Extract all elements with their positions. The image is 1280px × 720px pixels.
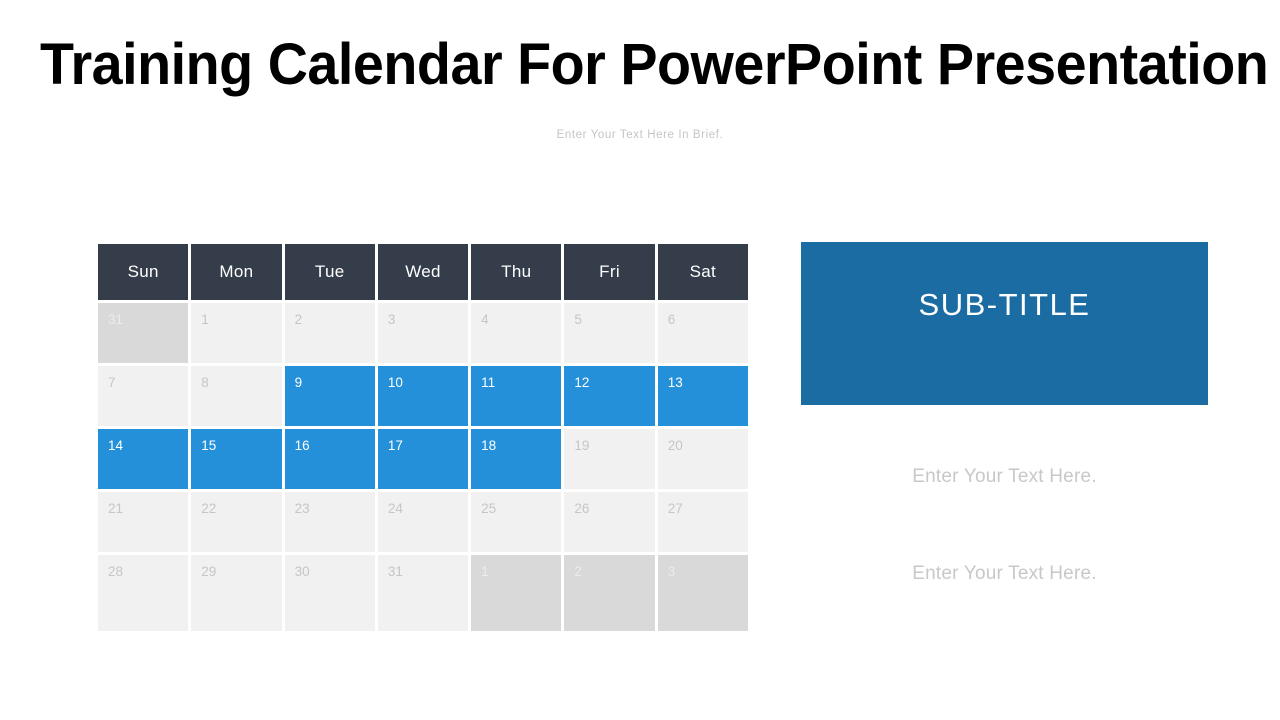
calendar-day-cell[interactable]: 3: [658, 555, 748, 631]
calendar-day-cell[interactable]: 31: [98, 303, 188, 363]
calendar-day-cell[interactable]: 11: [471, 366, 561, 426]
calendar-grid: SunMonTueWedThuFriSat 311234567891011121…: [98, 244, 748, 634]
calendar-day-cell[interactable]: 20: [658, 429, 748, 489]
calendar-day-cell[interactable]: 4: [471, 303, 561, 363]
calendar-day-cell[interactable]: 29: [191, 555, 281, 631]
calendar-week-row: 14151617181920: [98, 429, 748, 489]
sub-title-panel: SUB-TITLE: [801, 242, 1208, 405]
calendar-day-cell[interactable]: 22: [191, 492, 281, 552]
calendar-week-row: 78910111213: [98, 366, 748, 426]
calendar-header-row: SunMonTueWedThuFriSat: [98, 244, 748, 300]
calendar-day-cell[interactable]: 15: [191, 429, 281, 489]
calendar-weekday-header: Wed: [378, 244, 468, 300]
calendar-weekday-header: Sun: [98, 244, 188, 300]
calendar-day-cell[interactable]: 12: [564, 366, 654, 426]
calendar-day-cell[interactable]: 27: [658, 492, 748, 552]
calendar-weekday-header: Mon: [191, 244, 281, 300]
calendar-weekday-header: Thu: [471, 244, 561, 300]
calendar-day-cell[interactable]: 10: [378, 366, 468, 426]
calendar-week-row: 28293031123: [98, 555, 748, 631]
calendar-day-cell[interactable]: 18: [471, 429, 561, 489]
calendar-day-cell[interactable]: 25: [471, 492, 561, 552]
calendar-day-cell[interactable]: 3: [378, 303, 468, 363]
calendar-week-row: 21222324252627: [98, 492, 748, 552]
calendar-day-cell[interactable]: 19: [564, 429, 654, 489]
side-body-text-1: Enter Your Text Here.: [801, 466, 1208, 488]
side-body-text-2: Enter Your Text Here.: [801, 563, 1208, 585]
calendar-day-cell[interactable]: 5: [564, 303, 654, 363]
calendar-day-cell[interactable]: 28: [98, 555, 188, 631]
calendar-day-cell[interactable]: 21: [98, 492, 188, 552]
calendar-day-cell[interactable]: 13: [658, 366, 748, 426]
calendar-day-cell[interactable]: 1: [191, 303, 281, 363]
calendar-day-cell[interactable]: 6: [658, 303, 748, 363]
calendar-day-cell[interactable]: 31: [378, 555, 468, 631]
calendar-day-cell[interactable]: 17: [378, 429, 468, 489]
calendar-day-cell[interactable]: 24: [378, 492, 468, 552]
calendar-weekday-header: Sat: [658, 244, 748, 300]
calendar-day-cell[interactable]: 2: [285, 303, 375, 363]
calendar-day-cell[interactable]: 26: [564, 492, 654, 552]
slide-subtitle: Enter Your Text Here In Brief.: [0, 129, 1280, 141]
calendar-week-row: 31123456: [98, 303, 748, 363]
sub-title-heading: SUB-TITLE: [801, 287, 1208, 323]
calendar-day-cell[interactable]: 1: [471, 555, 561, 631]
calendar-day-cell[interactable]: 9: [285, 366, 375, 426]
calendar-day-cell[interactable]: 23: [285, 492, 375, 552]
calendar-weekday-header: Fri: [564, 244, 654, 300]
calendar-weekday-header: Tue: [285, 244, 375, 300]
calendar-day-cell[interactable]: 2: [564, 555, 654, 631]
calendar-day-cell[interactable]: 8: [191, 366, 281, 426]
calendar-day-cell[interactable]: 30: [285, 555, 375, 631]
calendar-day-cell[interactable]: 16: [285, 429, 375, 489]
calendar-day-cell[interactable]: 14: [98, 429, 188, 489]
page-title: Training Calendar For PowerPoint Present…: [40, 28, 1192, 102]
calendar-day-cell[interactable]: 7: [98, 366, 188, 426]
